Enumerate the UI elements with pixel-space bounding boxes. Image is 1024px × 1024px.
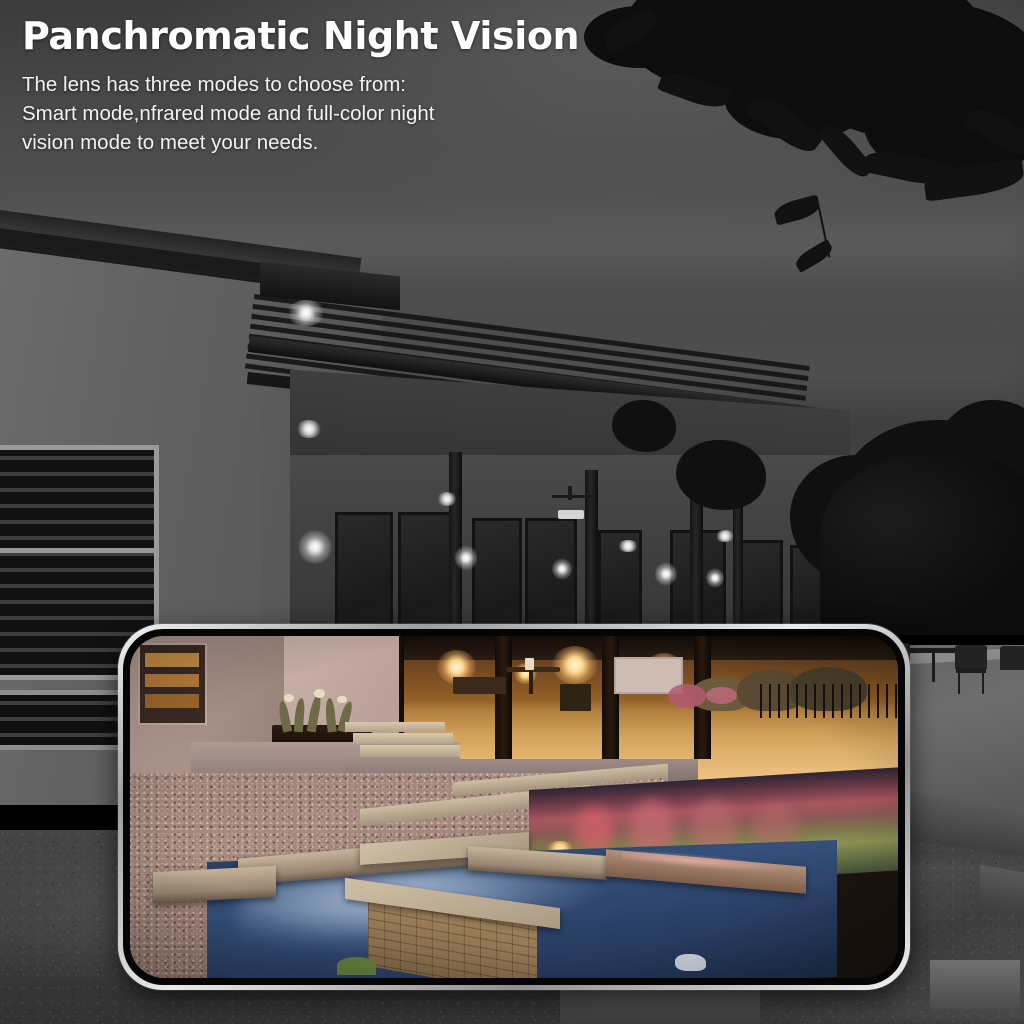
screen-flower [314, 689, 325, 697]
page-title: Panchromatic Night Vision [22, 14, 682, 58]
hedge-right [820, 455, 1024, 635]
eave-light [286, 300, 326, 326]
wall-sconce [655, 562, 677, 586]
wall-sconce [706, 568, 724, 588]
screen-stone-slab [153, 865, 276, 902]
patio-table-leg [932, 652, 935, 682]
screen-pool-object [675, 954, 706, 971]
stone-slab [930, 960, 1020, 1010]
screen-step [353, 733, 453, 744]
screen-interior-lamp [552, 646, 598, 684]
screen-window-glow [145, 694, 199, 708]
ceiling-downlight [715, 530, 735, 542]
phone-bezel [123, 629, 905, 985]
ceiling-fan-light [558, 510, 584, 519]
stone-slab [560, 985, 760, 1024]
screen-grass-tuft [337, 957, 375, 974]
screen-trash-bin [560, 684, 591, 711]
screen-table-item [525, 658, 534, 670]
ceiling-downlight [296, 420, 322, 438]
screen-fence [760, 684, 898, 718]
tree-mid [612, 400, 676, 452]
screenshot-stage: Panchromatic Night Vision The lens has t… [0, 0, 1024, 1024]
screen-window-glow [145, 674, 199, 688]
screen-planter-box [453, 677, 507, 694]
description-line-2: Smart mode,nfrared mode and full-color n… [22, 99, 682, 128]
patio-chair-leg [958, 672, 960, 694]
wall-sconce [455, 545, 477, 571]
wall-sconce [298, 530, 332, 564]
description-line-3: vision mode to meet your needs. [22, 128, 682, 157]
description-line-1: The lens has three modes to choose from: [22, 70, 682, 99]
screen-flowers [668, 684, 706, 708]
ceiling-fan-blade [552, 495, 596, 498]
ceiling-fan-rod [568, 486, 572, 500]
smartphone-device[interactable] [118, 624, 910, 990]
wall-sconce [552, 558, 572, 580]
ceiling-downlight [437, 492, 457, 506]
phone-screen[interactable] [130, 636, 898, 978]
text-overlay: Panchromatic Night Vision The lens has t… [22, 14, 682, 157]
patio-chair [1000, 646, 1024, 670]
screen-window-glow [145, 653, 199, 667]
screen-step [345, 722, 445, 733]
patio-chair [955, 645, 987, 669]
tree-mid [676, 440, 766, 510]
ceiling-downlight [617, 540, 639, 552]
patio-chair-leg [982, 672, 984, 694]
screen-flower [337, 696, 346, 704]
description-text: The lens has three modes to choose from:… [22, 70, 682, 157]
screen-table-leg [529, 670, 533, 694]
screen-step [360, 745, 460, 757]
